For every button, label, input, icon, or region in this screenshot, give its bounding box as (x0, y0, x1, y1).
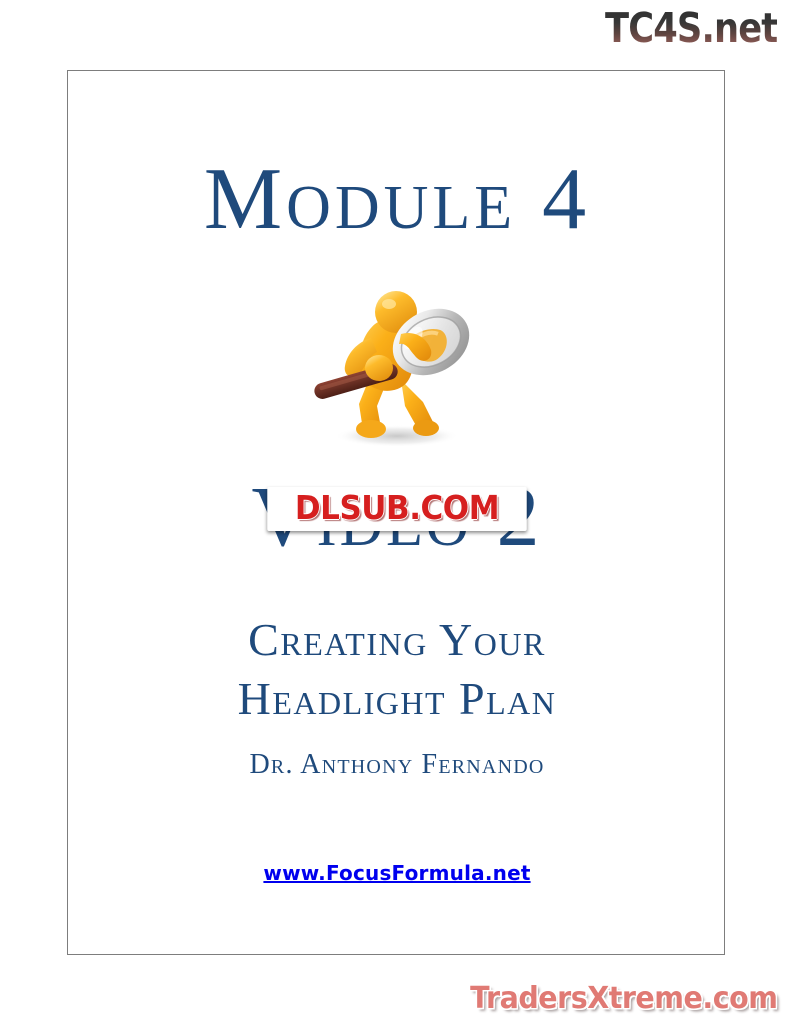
document-page: TC4S.net Module 4 (0, 0, 791, 1024)
magnifying-glass-person-icon (297, 276, 497, 451)
video-title-group: Video 2 DLSUB.COM (68, 471, 726, 581)
watermark-bottom-right: TradersXtreme.com (470, 981, 777, 1016)
website-link[interactable]: www.FocusFormula.net (263, 861, 530, 885)
cover-illustration (68, 276, 726, 451)
watermark-overlay-dlsub: DLSUB.COM (267, 487, 526, 531)
watermark-top-right: TC4S.net (605, 4, 777, 52)
author-name: Dr. Anthony Fernando (68, 749, 726, 781)
subtitle-line-1: Creating Your (68, 611, 726, 670)
page-border-frame: Module 4 (67, 70, 725, 955)
website-link-row: www.FocusFormula.net (68, 861, 726, 885)
subtitle-line-2: Headlight Plan (68, 670, 726, 729)
page-title: Module 4 (68, 156, 726, 244)
page-subtitle: Creating Your Headlight Plan (68, 611, 726, 729)
